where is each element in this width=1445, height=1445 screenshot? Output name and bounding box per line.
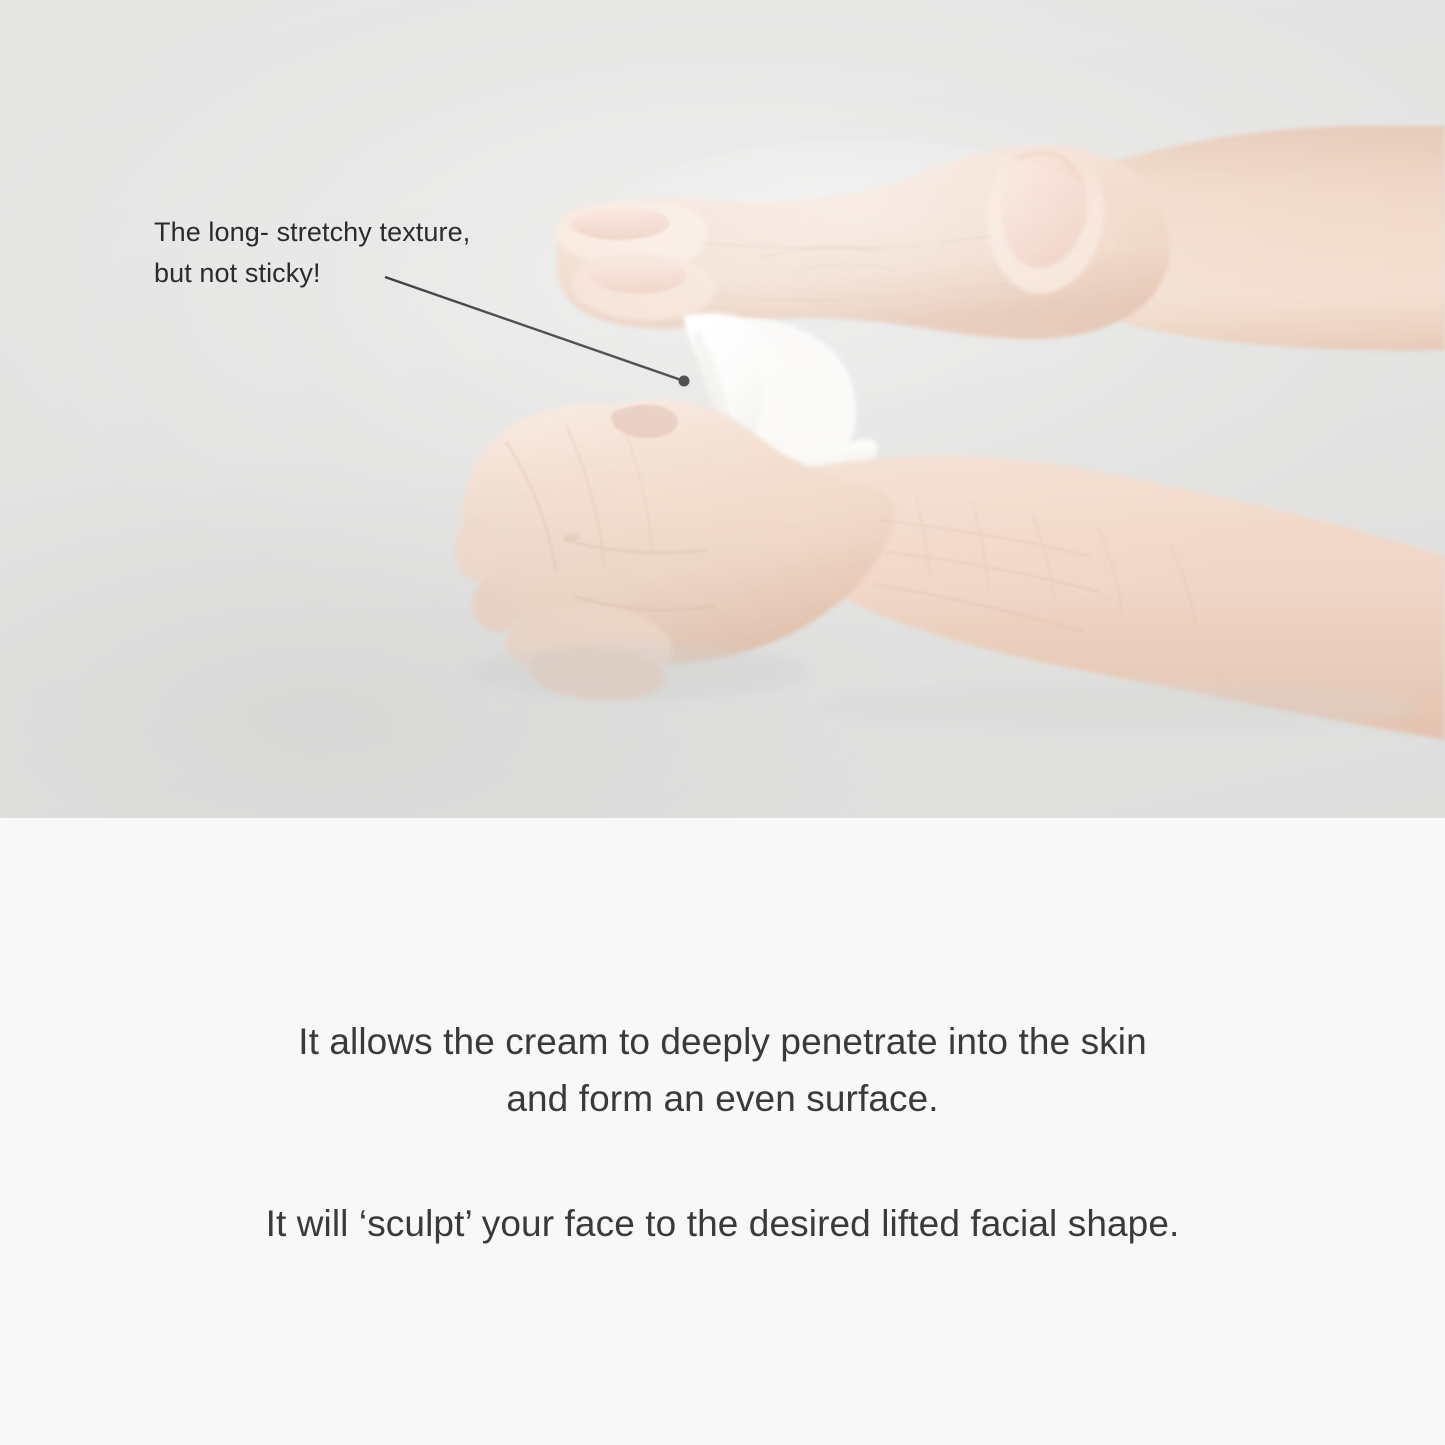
description-paragraph-2: It will ‘sculpt’ your face to the desire… (0, 1196, 1445, 1253)
description-section: It allows the cream to deeply penetrate … (0, 818, 1445, 1445)
fist-drop-shadow (470, 644, 810, 700)
hand-highlight (600, 140, 1120, 320)
product-texture-photo: The long- stretchy texture, but not stic… (0, 0, 1445, 818)
description-paragraph-1: It allows the cream to deeply penetrate … (0, 1014, 1445, 1128)
arm-drop-shadow (820, 680, 1420, 732)
hands-cream-illustration (0, 0, 1445, 818)
texture-caption: The long- stretchy texture, but not stic… (154, 212, 584, 294)
product-detail-page: The long- stretchy texture, but not stic… (0, 0, 1445, 1445)
